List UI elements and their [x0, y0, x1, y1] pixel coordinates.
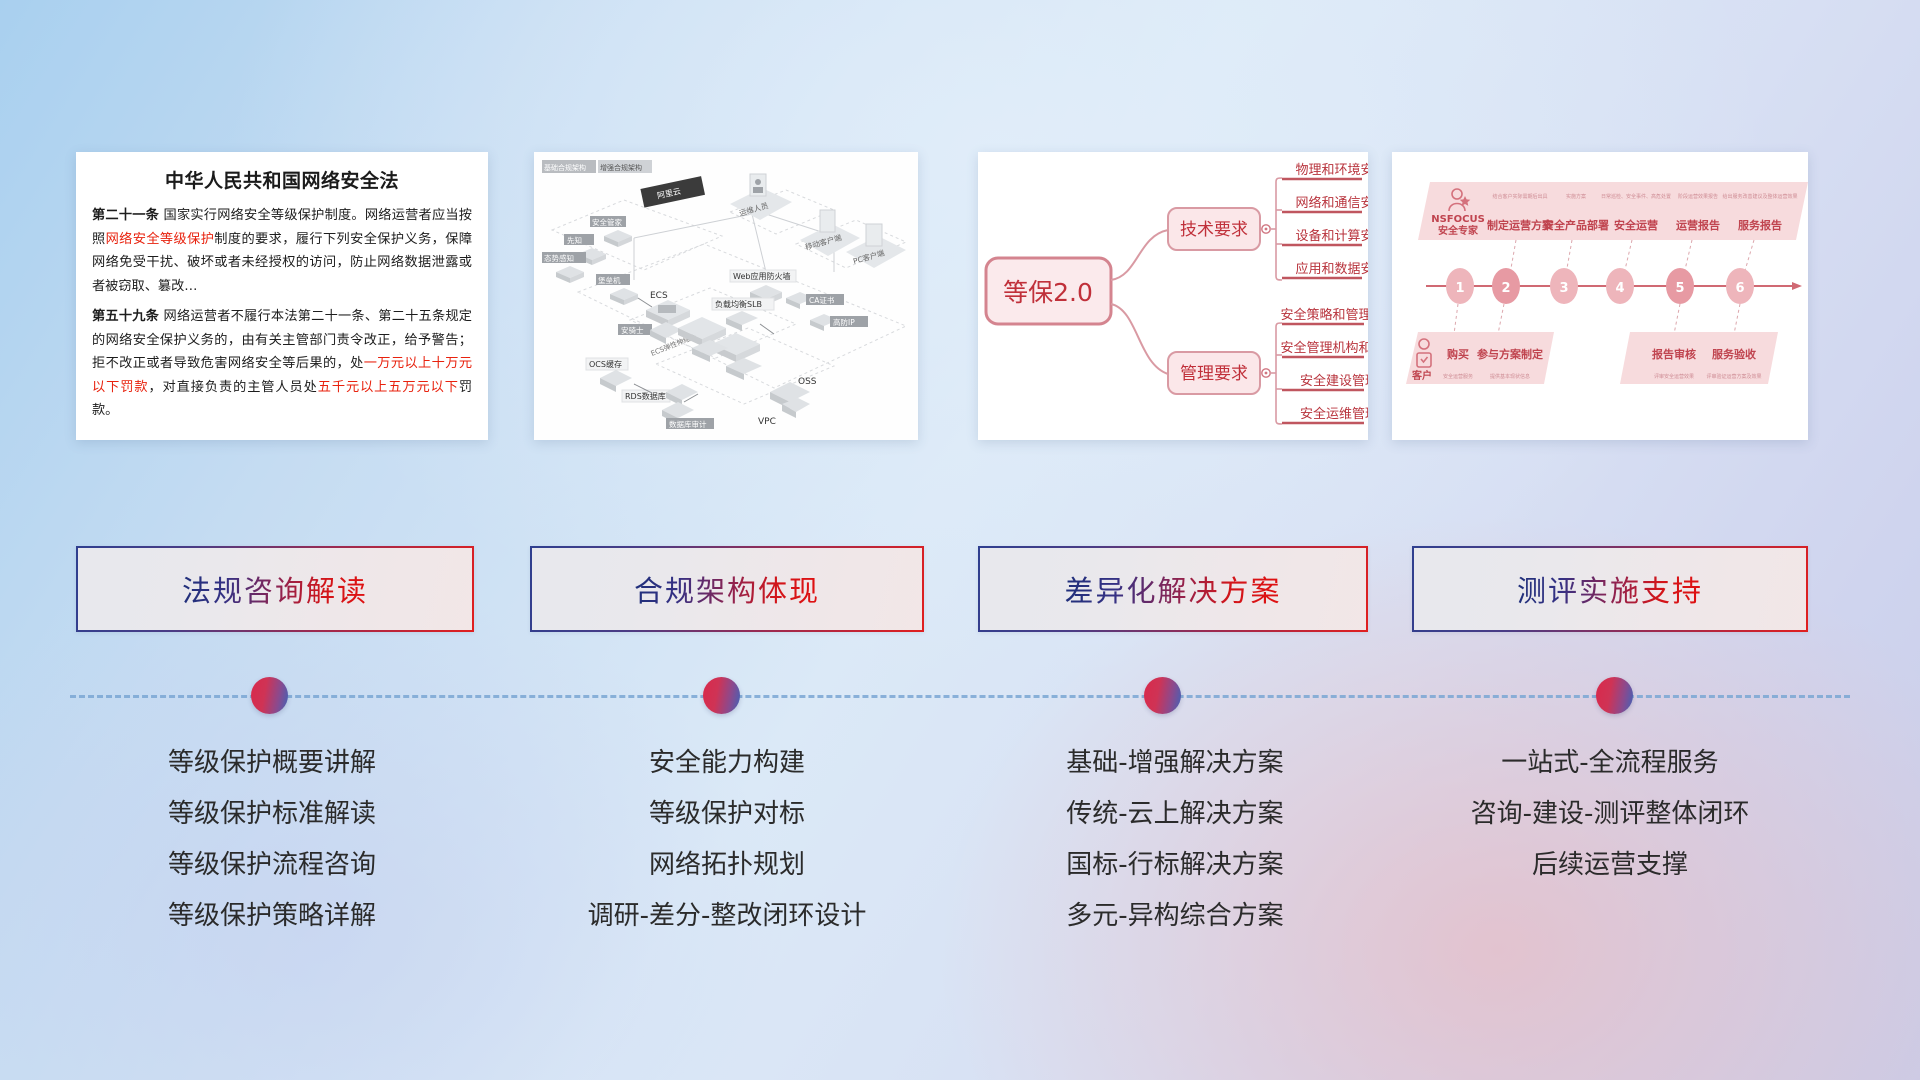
nsfocus-bottom-title-1: 参与方案制定: [1477, 347, 1543, 361]
nsfocus-top-sub-2: 日常巡检、安全事件、高危处置: [1601, 193, 1671, 200]
node-situational-awareness: 态势感知: [544, 253, 574, 263]
mindmap-leaf-mgmt-0: 安全策略和管理制度: [1280, 307, 1368, 323]
nsfocus-bottom-title-2: 报告审核: [1652, 347, 1696, 361]
list-item: 多元-异构综合方案: [960, 891, 1390, 942]
banner-label-1: 合规架构体现: [634, 568, 820, 610]
node-slb: 负载均衡SLB: [715, 299, 762, 309]
node-anqishi: 安骑士: [621, 325, 644, 335]
mindmap: 等保2.0 技术要求: [978, 152, 1368, 440]
law-article-21-number: 第二十一条: [92, 208, 159, 223]
tab-enhanced-label: 增强合规架构: [600, 163, 642, 172]
mindmap-branch-mgmt-label: 管理要求: [1180, 364, 1248, 384]
mindmap-leaf-mgmt-2: 安全建设管理: [1300, 373, 1368, 389]
banner-compliance-architecture[interactable]: 合规架构体现: [530, 546, 924, 632]
mindmap-leaf-tech-0: 物理和环境安全: [1295, 162, 1368, 178]
detail-columns: 等级保护概要讲解 等级保护标准解读 等级保护流程咨询 等级保护策略详解 安全能力…: [0, 738, 1920, 978]
node-security-butler: 安全管家: [592, 217, 622, 227]
timeline-dot-3[interactable]: [1144, 677, 1181, 714]
list-item: 等级保护流程咨询: [62, 840, 482, 891]
detail-column-architecture: 安全能力构建 等级保护对标 网络拓扑规划 调研-差分-整改闭环设计: [512, 738, 942, 942]
nsfocus-top-title-1: 安全产品部署: [1543, 218, 1609, 232]
list-item: 等级保护概要讲解: [62, 738, 482, 789]
node-ocs-cache: OCS缓存: [589, 359, 622, 369]
list-item: 一站式-全流程服务: [1400, 738, 1820, 789]
nsfocus-bottom-sub-1: 提供基本现状信息: [1490, 373, 1530, 380]
nsfocus-svg: NSFOCUS 安全专家 结合客户实际需期后出具 制定运营方案 实施方案 安全产…: [1392, 152, 1808, 440]
nsfocus-step-3: 3: [1559, 281, 1568, 296]
nsfocus-bottom-sub-3: 评审验证运营方案及效果: [1706, 373, 1761, 380]
architecture-diagram: 基础合规架构 增强合规架构 阿里云: [534, 152, 918, 440]
law-a59-seg3: 五千元以上五万元以下: [318, 380, 459, 395]
nsfocus-step-4: 4: [1615, 281, 1624, 296]
list-item: 国标-行标解决方案: [960, 840, 1390, 891]
law-article-59-number: 第五十九条: [92, 309, 159, 324]
card-dengbao-mindmap[interactable]: 等保2.0 技术要求: [978, 152, 1368, 440]
tab-basic-label: 基础合规架构: [544, 163, 586, 172]
banner-label-2: 差异化解决方案: [1064, 568, 1281, 610]
list-item: 安全能力构建: [512, 738, 942, 789]
nsfocus-top-title-3: 运营报告: [1676, 218, 1720, 232]
banner-label-0: 法规咨询解读: [182, 568, 368, 610]
nsfocus-bottom-sub-2: 评审安全运营效果: [1654, 373, 1694, 380]
node-ca-cert: CA证书: [809, 295, 835, 305]
law-article-21: 第二十一条 国家实行网络安全等级保护制度。网络运营者应当按照网络安全等级保护制度…: [92, 204, 472, 298]
mindmap-branch-tech-label: 技术要求: [1180, 220, 1248, 240]
node-rds: RDS数据库: [625, 391, 666, 401]
preview-cards-row: 中华人民共和国网络安全法 第二十一条 国家实行网络安全等级保护制度。网络运营者应…: [0, 152, 1920, 442]
detail-column-assessment: 一站式-全流程服务 咨询-建设-测评整体闭环 后续运营支撑: [1400, 738, 1820, 891]
timeline-dashed-line: [70, 695, 1850, 698]
card-nsfocus-timeline[interactable]: NSFOCUS 安全专家 结合客户实际需期后出具 制定运营方案 实施方案 安全产…: [1392, 152, 1808, 440]
node-vpc: VPC: [758, 417, 776, 427]
node-oss: OSS: [798, 377, 817, 387]
timeline: [0, 694, 1920, 698]
nsfocus-expert-role: 安全专家: [1438, 224, 1479, 237]
timeline-dot-4[interactable]: [1596, 677, 1633, 714]
law-a59-seg2: ，对直接负责的主管人员处: [148, 380, 317, 395]
banner-row: 法规咨询解读 合规架构体现 差异化解决方案 测评实施支持: [0, 546, 1920, 632]
list-item: 后续运营支撑: [1400, 840, 1820, 891]
nsfocus-top-sub-4: 给出服务改善建议及整体运营效果: [1722, 193, 1797, 200]
mindmap-leaf-mgmt-1: 安全管理机构和人员: [1280, 340, 1368, 356]
architecture-svg: 基础合规架构 增强合规架构 阿里云: [534, 152, 918, 440]
nsfocus-step-6: 6: [1735, 281, 1744, 296]
mindmap-leaf-tech-3: 应用和数据安全: [1295, 261, 1368, 277]
nsfocus-bottom-title-0: 购买: [1447, 347, 1469, 361]
nsfocus-top-sub-1: 实施方案: [1566, 193, 1586, 200]
banner-differentiated-solution[interactable]: 差异化解决方案: [978, 546, 1368, 632]
nsfocus-step-1: 1: [1455, 281, 1464, 296]
detail-column-regulation: 等级保护概要讲解 等级保护标准解读 等级保护流程咨询 等级保护策略详解: [62, 738, 482, 942]
node-bastion-host: 堡垒机: [598, 275, 621, 285]
list-item: 等级保护标准解读: [62, 789, 482, 840]
node-ecs: ECS: [650, 291, 668, 301]
nsfocus-brand: NSFOCUS: [1431, 214, 1485, 225]
nsfocus-step-2: 2: [1501, 281, 1510, 296]
list-item: 传统-云上解决方案: [960, 789, 1390, 840]
node-waf: Web应用防火墙: [733, 271, 790, 281]
detail-column-solution: 基础-增强解决方案 传统-云上解决方案 国标-行标解决方案 多元-异构综合方案: [960, 738, 1390, 942]
nsfocus-top-title-4: 服务报告: [1738, 218, 1782, 232]
nsfocus-bottom-sub-0: 安全运营服务: [1443, 373, 1473, 380]
mindmap-leaf-mgmt-3: 安全运维管理: [1300, 406, 1368, 422]
node-anti-ddos-ip: 高防IP: [833, 317, 855, 327]
list-item: 等级保护对标: [512, 789, 942, 840]
node-xianzhi: 先知: [567, 235, 582, 245]
law-document: 中华人民共和国网络安全法 第二十一条 国家实行网络安全等级保护制度。网络运营者应…: [76, 152, 488, 431]
list-item: 调研-差分-整改闭环设计: [512, 891, 942, 942]
mindmap-leaf-tech-1: 网络和通信安全: [1295, 195, 1368, 211]
banner-regulation-consulting[interactable]: 法规咨询解读: [76, 546, 474, 632]
node-db-audit: 数据库审计: [669, 419, 707, 429]
banner-label-3: 测评实施支持: [1517, 568, 1703, 610]
banner-assessment-support[interactable]: 测评实施支持: [1412, 546, 1808, 632]
nsfocus-top-title-2: 安全运营: [1614, 218, 1658, 232]
nsfocus-infographic: NSFOCUS 安全专家 结合客户实际需期后出具 制定运营方案 实施方案 安全产…: [1392, 152, 1808, 440]
list-item: 等级保护策略详解: [62, 891, 482, 942]
nsfocus-step-5: 5: [1675, 281, 1684, 296]
list-item: 网络拓扑规划: [512, 840, 942, 891]
nsfocus-bottom-title-3: 服务验收: [1712, 347, 1756, 361]
list-item: 咨询-建设-测评整体闭环: [1400, 789, 1820, 840]
timeline-dot-1[interactable]: [251, 677, 288, 714]
mindmap-svg: 等保2.0 技术要求: [978, 152, 1368, 440]
law-article-59: 第五十九条 网络运营者不履行本法第二十一条、第二十五条规定的网络安全保护义务的，…: [92, 305, 472, 423]
card-cybersecurity-law[interactable]: 中华人民共和国网络安全法 第二十一条 国家实行网络安全等级保护制度。网络运营者应…: [76, 152, 488, 440]
law-title: 中华人民共和国网络安全法: [92, 166, 472, 193]
nsfocus-customer-role: 客户: [1411, 369, 1432, 382]
nsfocus-top-sub-0: 结合客户实际需期后出具: [1492, 193, 1547, 200]
law-a21-seg1: 网络安全等级保护: [106, 232, 215, 247]
nsfocus-top-sub-3: 阶段运营效果报告: [1678, 193, 1718, 200]
mindmap-root-label: 等保2.0: [1003, 278, 1093, 307]
mindmap-leaf-tech-2: 设备和计算安全: [1295, 228, 1368, 244]
timeline-dot-2[interactable]: [703, 677, 740, 714]
card-compliance-architecture[interactable]: 基础合规架构 增强合规架构 阿里云: [534, 152, 918, 440]
list-item: 基础-增强解决方案: [960, 738, 1390, 789]
